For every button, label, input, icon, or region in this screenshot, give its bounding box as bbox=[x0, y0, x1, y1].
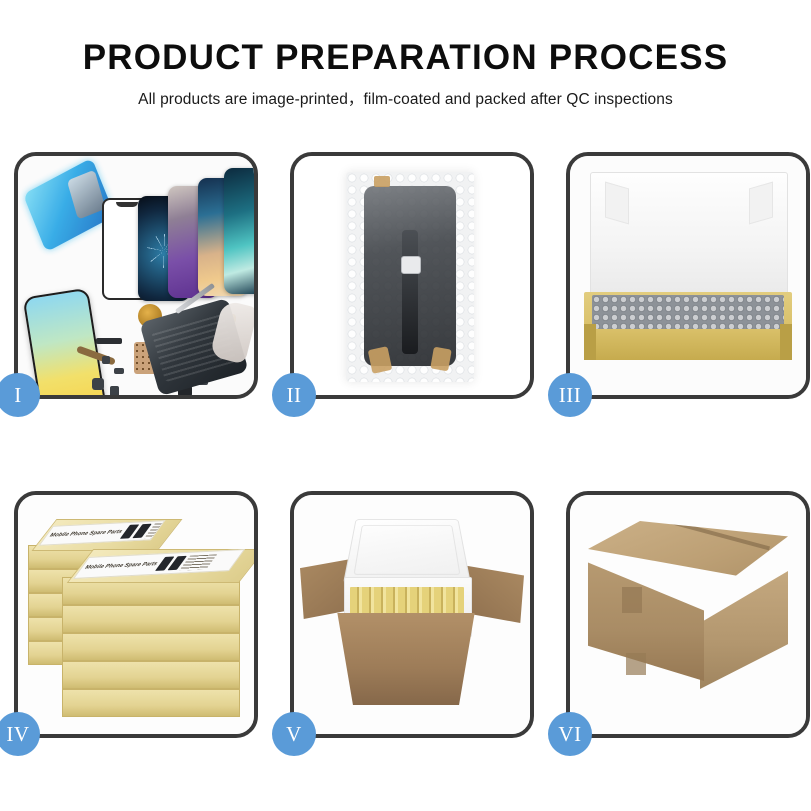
small-part-icon bbox=[110, 386, 119, 395]
box-lid-icon bbox=[590, 172, 788, 306]
process-step-panel-1: I bbox=[14, 152, 258, 399]
shipping-carton bbox=[588, 521, 788, 697]
panel-4-image: Mobile Phone Spare Parts Mobile Phone S bbox=[18, 495, 254, 734]
process-step-panel-6: VI bbox=[566, 491, 810, 738]
carton-side-face bbox=[700, 571, 788, 689]
process-step-panel-4: Mobile Phone Spare Parts Mobile Phone S bbox=[14, 491, 258, 738]
carton-body-icon bbox=[328, 613, 484, 705]
phone-display-teal bbox=[224, 168, 254, 294]
lid-flap-left-icon bbox=[605, 182, 629, 225]
box-label-text: Mobile Phone Spare Parts bbox=[83, 561, 159, 571]
lid-flap-right-icon bbox=[749, 182, 773, 225]
step-badge-4: IV bbox=[0, 712, 40, 756]
panel-6-image bbox=[570, 495, 806, 734]
connector-icon bbox=[401, 256, 421, 274]
step-badge-2: II bbox=[272, 373, 316, 417]
small-part-icon bbox=[102, 356, 110, 364]
box-label-text: Mobile Phone Spare Parts bbox=[48, 529, 124, 539]
step-badge-6: VI bbox=[548, 712, 592, 756]
step-badge-5: V bbox=[272, 712, 316, 756]
carton-tape-icon bbox=[626, 653, 646, 675]
panel-1-image bbox=[18, 156, 254, 395]
panel-5-image bbox=[294, 495, 530, 734]
screen-flex-ribbon-icon bbox=[402, 230, 418, 354]
header: PRODUCT PREPARATION PROCESS All products… bbox=[0, 0, 811, 109]
box-stack: Mobile Phone Spare Parts Mobile Phone S bbox=[26, 509, 246, 719]
carton-seam bbox=[624, 508, 770, 551]
tray-corner-right bbox=[780, 324, 792, 360]
process-step-panel-5: V bbox=[290, 491, 534, 738]
stacked-box bbox=[62, 661, 240, 689]
bubble-wrap-package bbox=[346, 172, 474, 382]
process-steps-grid: I II bbox=[14, 152, 803, 738]
carton-tape-icon bbox=[622, 587, 642, 613]
small-part-icon bbox=[114, 368, 124, 374]
bubble-wrapped-contents-icon bbox=[592, 295, 784, 329]
page-subtitle: All products are image-printed，film-coat… bbox=[0, 87, 811, 109]
carton-front-face bbox=[588, 555, 704, 681]
process-step-panel-3: III bbox=[566, 152, 810, 399]
page-title: PRODUCT PREPARATION PROCESS bbox=[0, 40, 811, 75]
small-part-icon bbox=[92, 378, 104, 390]
stacked-box bbox=[62, 605, 240, 633]
tape-strip-icon bbox=[374, 176, 390, 187]
tray-corner-left bbox=[584, 324, 596, 360]
tape-strip-icon bbox=[430, 347, 452, 372]
step-badge-1: I bbox=[0, 373, 40, 417]
small-part-icon bbox=[96, 338, 122, 344]
product-preparation-infographic: PRODUCT PREPARATION PROCESS All products… bbox=[0, 0, 811, 811]
process-step-panel-2: II bbox=[290, 152, 534, 399]
foam-lid-icon bbox=[343, 519, 471, 584]
panel-2-image bbox=[294, 156, 530, 395]
step-badge-3: III bbox=[548, 373, 592, 417]
stacked-box bbox=[62, 689, 240, 717]
panel-3-image bbox=[570, 156, 806, 395]
stacked-box bbox=[62, 633, 240, 661]
